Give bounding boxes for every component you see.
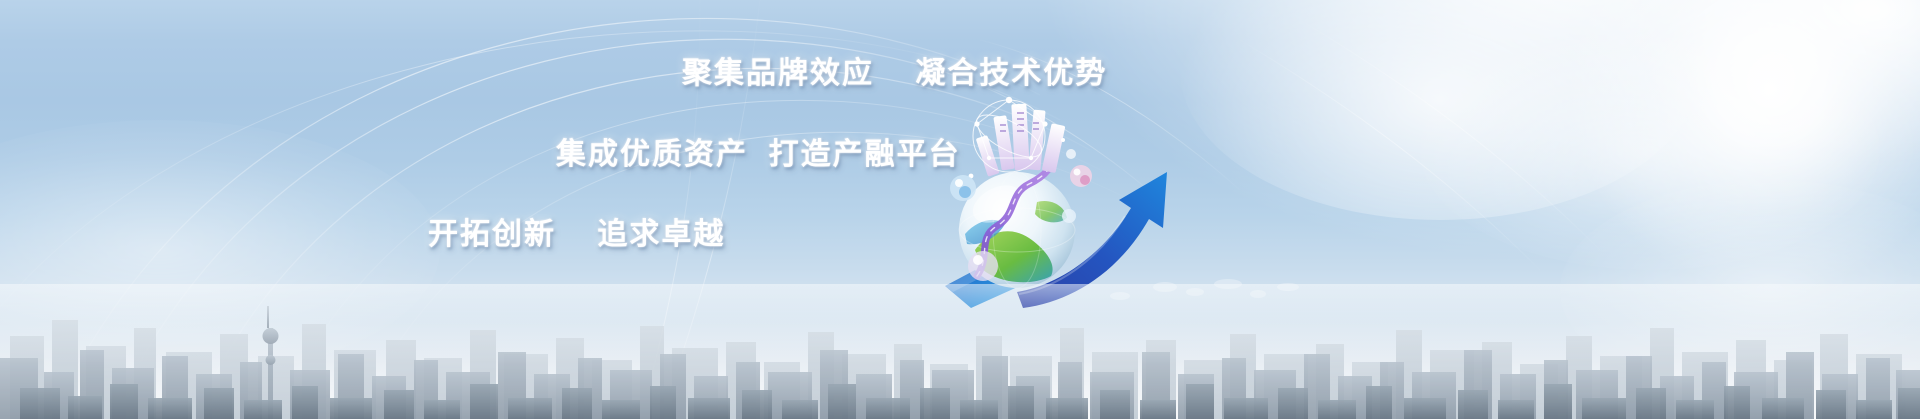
hero-banner: 聚集品牌效应 凝合技术优势 集成优质资产 打造产融平台 开拓创新 追求卓越 [0,0,1920,419]
city-skyline-graphic [0,284,1920,419]
headline-line-1: 聚集品牌效应 凝合技术优势 [682,59,1107,89]
city-skyline-svg [0,284,1920,419]
skyline-haze [0,284,1920,419]
headline-line-3: 开拓创新 追求卓越 [428,220,725,250]
headline-line-2: 集成优质资产 打造产融平台 [556,140,961,170]
tv-tower [263,306,279,419]
